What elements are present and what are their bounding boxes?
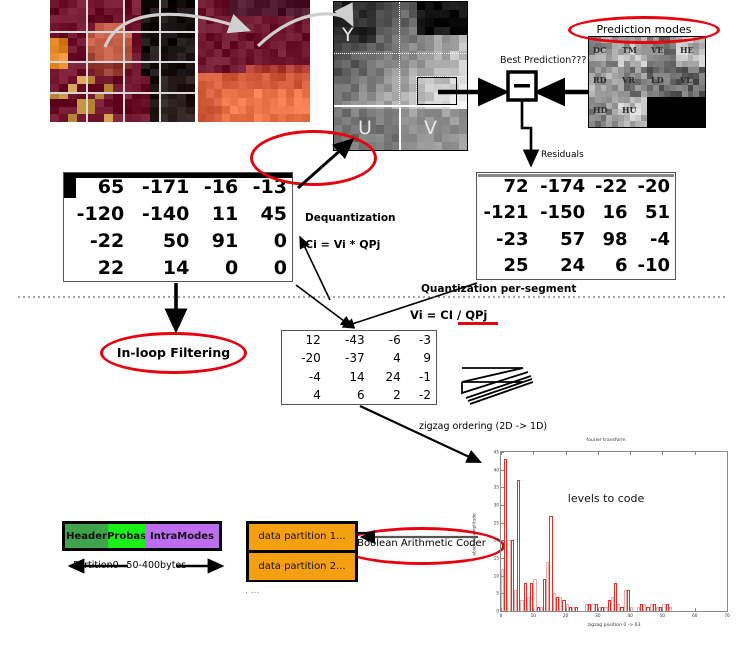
chart-x-tick-label: 20 (563, 613, 568, 618)
yuv-plane-label-v: V (424, 117, 437, 139)
prediction-mode-cell[interactable] (676, 97, 705, 127)
prediction-mode-label: HD (593, 105, 608, 115)
chart-y-tick-mark (501, 558, 504, 559)
data-partitions-bitstream: data partition 1... data partition 2... (246, 521, 358, 582)
chart-title: fourier transform (478, 438, 734, 443)
chart-y-axis-label: absolute amplitude (473, 499, 478, 569)
chart-y-tick-mark (501, 540, 504, 541)
prediction-mode-label: RD (593, 75, 607, 85)
dequantized-coefficients-matrix: 65-171-16-13 -120-1401145 -2250910 22140… (63, 172, 293, 282)
chart-x-tick-label: 50 (660, 613, 665, 618)
chart-x-tick-label: 60 (692, 613, 697, 618)
matrix-cell: -2 (406, 386, 436, 404)
matrix-cell: -140 (129, 200, 194, 227)
matrix-cell: 9 (406, 349, 436, 367)
prediction-mode-label: DC (593, 45, 606, 55)
matrix-cell: 0 (194, 254, 243, 281)
matrix-cell: 0 (243, 254, 292, 281)
minus-icon (514, 84, 530, 88)
matrix-cell: 45 (243, 200, 292, 227)
matrix-cell: 51 (633, 200, 675, 227)
chart-y-tick-label: 10 (494, 573, 499, 578)
chart-y-tick-label: 25 (494, 520, 499, 525)
matrix-cell: 22 (64, 254, 129, 281)
best-prediction-label: Best Prediction??? (500, 55, 586, 66)
chart-x-tick-label: 40 (627, 613, 632, 618)
partition0-bitstream: Header Probas IntraModes (62, 521, 222, 551)
matrix-cell: 6 (590, 253, 632, 280)
highlight-ellipse-yuv-block (250, 130, 377, 186)
dequantization-formula: Ci = Vi * QPj (305, 238, 380, 251)
residuals-matrix: 72-174-22-20 -121-1501651 -235798-4 2524… (476, 172, 676, 280)
matrix-cell: 50 (129, 227, 194, 254)
quantization-formula: Vi = CI / QPj (410, 308, 487, 322)
chart-y-tick-label: 20 (494, 538, 499, 543)
data-partition-2: data partition 2... (249, 553, 355, 581)
coefficient-histogram-chart: fourier transform absolute amplitude 051… (478, 438, 734, 638)
partition0-segment-header: Header (65, 524, 108, 548)
prediction-mode-label: LD (651, 75, 664, 85)
chart-x-tick-label: 70 (724, 613, 729, 618)
data-partition-1: data partition 1... (249, 524, 355, 553)
chart-x-tick-mark (566, 608, 567, 611)
prediction-modes-label: Prediction modes (568, 23, 720, 36)
residuals-label: Residuals (541, 150, 584, 160)
matrix-cell: 57 (534, 226, 591, 253)
matrix-cell: 16 (590, 200, 632, 227)
prediction-mode-label: HU (622, 105, 637, 115)
chart-y-tick-mark (501, 523, 504, 524)
chart-y-tick-mark (501, 576, 504, 577)
matrix-cell: 4 (282, 386, 326, 404)
matrix-cell: -4 (282, 368, 326, 386)
prediction-mode-label: VR (622, 75, 635, 85)
zoomed-macroblock-image (198, 0, 310, 122)
prediction-mode-label: VL (680, 75, 692, 85)
dequantization-label: Dequantization (305, 212, 396, 224)
chart-y-tick-mark (501, 505, 504, 506)
inloop-filtering-label: In-loop Filtering (100, 345, 247, 360)
chart-x-tick-mark-top (630, 452, 631, 455)
arrow-dequant-to-quantized (296, 285, 352, 327)
chart-x-tick-mark (533, 608, 534, 611)
chart-x-tick-mark-top (566, 452, 567, 455)
chart-y-tick-label: 35 (494, 485, 499, 490)
quantized-levels-matrix: 12-43-6-3 -20-3749 -41424-1 462-2 (281, 330, 437, 405)
chart-y-tick-label: 40 (494, 467, 499, 472)
chart-x-tick-label: 0 (500, 613, 503, 618)
chart-plot-area: absolute amplitude 051015202530354045010… (500, 451, 728, 612)
chart-bars-group (501, 452, 727, 611)
partition0-segment-probas: Probas (108, 524, 145, 548)
matrix-cell: 0 (243, 227, 292, 254)
yuv-plane-label-y: Y (342, 24, 354, 46)
matrix-cell: 11 (194, 200, 243, 227)
chart-x-tick-mark-top (662, 452, 663, 455)
matrix-cell: -1 (406, 368, 436, 386)
matrix-cell: 2 (370, 386, 406, 404)
prediction-mode-cell[interactable]: LD (647, 67, 676, 97)
chart-y-tick-mark (501, 470, 504, 471)
prediction-mode-cell[interactable]: HD (589, 97, 618, 127)
matrix-cell: 24 (370, 368, 406, 386)
matrix-cell: 14 (326, 368, 370, 386)
arrow-subtract-to-residuals (522, 100, 531, 165)
matrix-cell: -6 (370, 331, 406, 349)
yuv-planes-image: Y U V (333, 1, 468, 151)
quantization-label: Quantization per-segment (421, 283, 576, 295)
chart-x-tick-mark-top (695, 452, 696, 455)
matrix-cell: -43 (326, 331, 370, 349)
matrix-top-accent-bar (64, 173, 292, 178)
chart-x-tick-label: 10 (531, 613, 536, 618)
prediction-mode-cell[interactable]: VR (618, 67, 647, 97)
partition0-span-label: Partition0 –50-400bytes (73, 560, 186, 571)
chart-x-tick-mark-top (501, 452, 502, 455)
prediction-mode-cell[interactable]: VL (676, 67, 705, 97)
prediction-mode-label: TM (622, 45, 637, 55)
chart-y-tick-mark (501, 487, 504, 488)
chart-x-tick-mark (662, 608, 663, 611)
arrow-quantized-to-histogram (360, 406, 480, 462)
prediction-modes-image: DCTMVEHERDVRLDVLHDHU (588, 36, 706, 128)
prediction-mode-cell[interactable]: HU (618, 97, 647, 127)
chart-x-tick-mark (630, 608, 631, 611)
chart-y-tick-mark (501, 611, 504, 612)
chart-y-tick-label: 0 (496, 609, 499, 614)
prediction-mode-label: VE (651, 45, 663, 55)
matrix-cell: 25 (477, 253, 534, 280)
chart-x-tick-mark (598, 608, 599, 611)
source-frame-image (50, 0, 195, 122)
matrix-cell: -23 (477, 226, 534, 253)
matrix-cell: -10 (633, 253, 675, 280)
matrix-cell: -120 (64, 200, 129, 227)
formula-underline (458, 322, 498, 325)
chart-y-tick-mark (501, 593, 504, 594)
chart-x-axis-label: zigzag position 0 -> 63 (500, 623, 728, 628)
matrix-cell: 4 (370, 349, 406, 367)
zigzag-scan-icon (462, 368, 533, 404)
matrix-cell: -22 (64, 227, 129, 254)
prediction-mode-cell[interactable]: RD (589, 67, 618, 97)
zigzag-ordering-label: zigzag ordering (2D -> 1D) (419, 421, 547, 432)
matrix-cell: -37 (326, 349, 370, 367)
matrix-top-accent-bar (478, 174, 674, 177)
matrix-cell: 91 (194, 227, 243, 254)
subtract-node (508, 72, 536, 100)
chart-x-tick-mark (501, 608, 502, 611)
chart-x-tick-mark-top (598, 452, 599, 455)
chart-x-tick-mark (727, 608, 728, 611)
chart-x-tick-mark (695, 608, 696, 611)
chart-y-tick-label: 45 (494, 450, 499, 455)
matrix-cell: 98 (590, 226, 632, 253)
chart-x-tick-label: 30 (595, 613, 600, 618)
matrix-cell: 24 (534, 253, 591, 280)
matrix-cell: 6 (326, 386, 370, 404)
data-partitions-ellipsis: , ... (245, 586, 259, 596)
matrix-cell: -20 (282, 349, 326, 367)
prediction-mode-label: HE (680, 45, 694, 55)
histogram-bar (575, 607, 578, 611)
matrix-cell: -4 (633, 226, 675, 253)
chart-annotation-levels-to-code: levels to code (478, 492, 734, 505)
histogram-bar (669, 607, 672, 611)
matrix-cell: 12 (282, 331, 326, 349)
chart-y-tick-label: 15 (494, 556, 499, 561)
matrix-cell: -3 (406, 331, 436, 349)
chart-x-tick-mark-top (533, 452, 534, 455)
chart-y-tick-label: 5 (496, 591, 499, 596)
matrix-cell: -150 (534, 200, 591, 227)
yuv-plane-label-u: U (358, 117, 372, 139)
prediction-mode-cell[interactable] (647, 97, 676, 127)
partition0-segment-intramodes: IntraModes (145, 524, 219, 548)
matrix-dc-accent-bar (64, 176, 76, 198)
matrix-cell: -121 (477, 200, 534, 227)
matrix-cell: 14 (129, 254, 194, 281)
histogram-bar (533, 579, 536, 611)
chart-x-tick-mark-top (727, 452, 728, 455)
